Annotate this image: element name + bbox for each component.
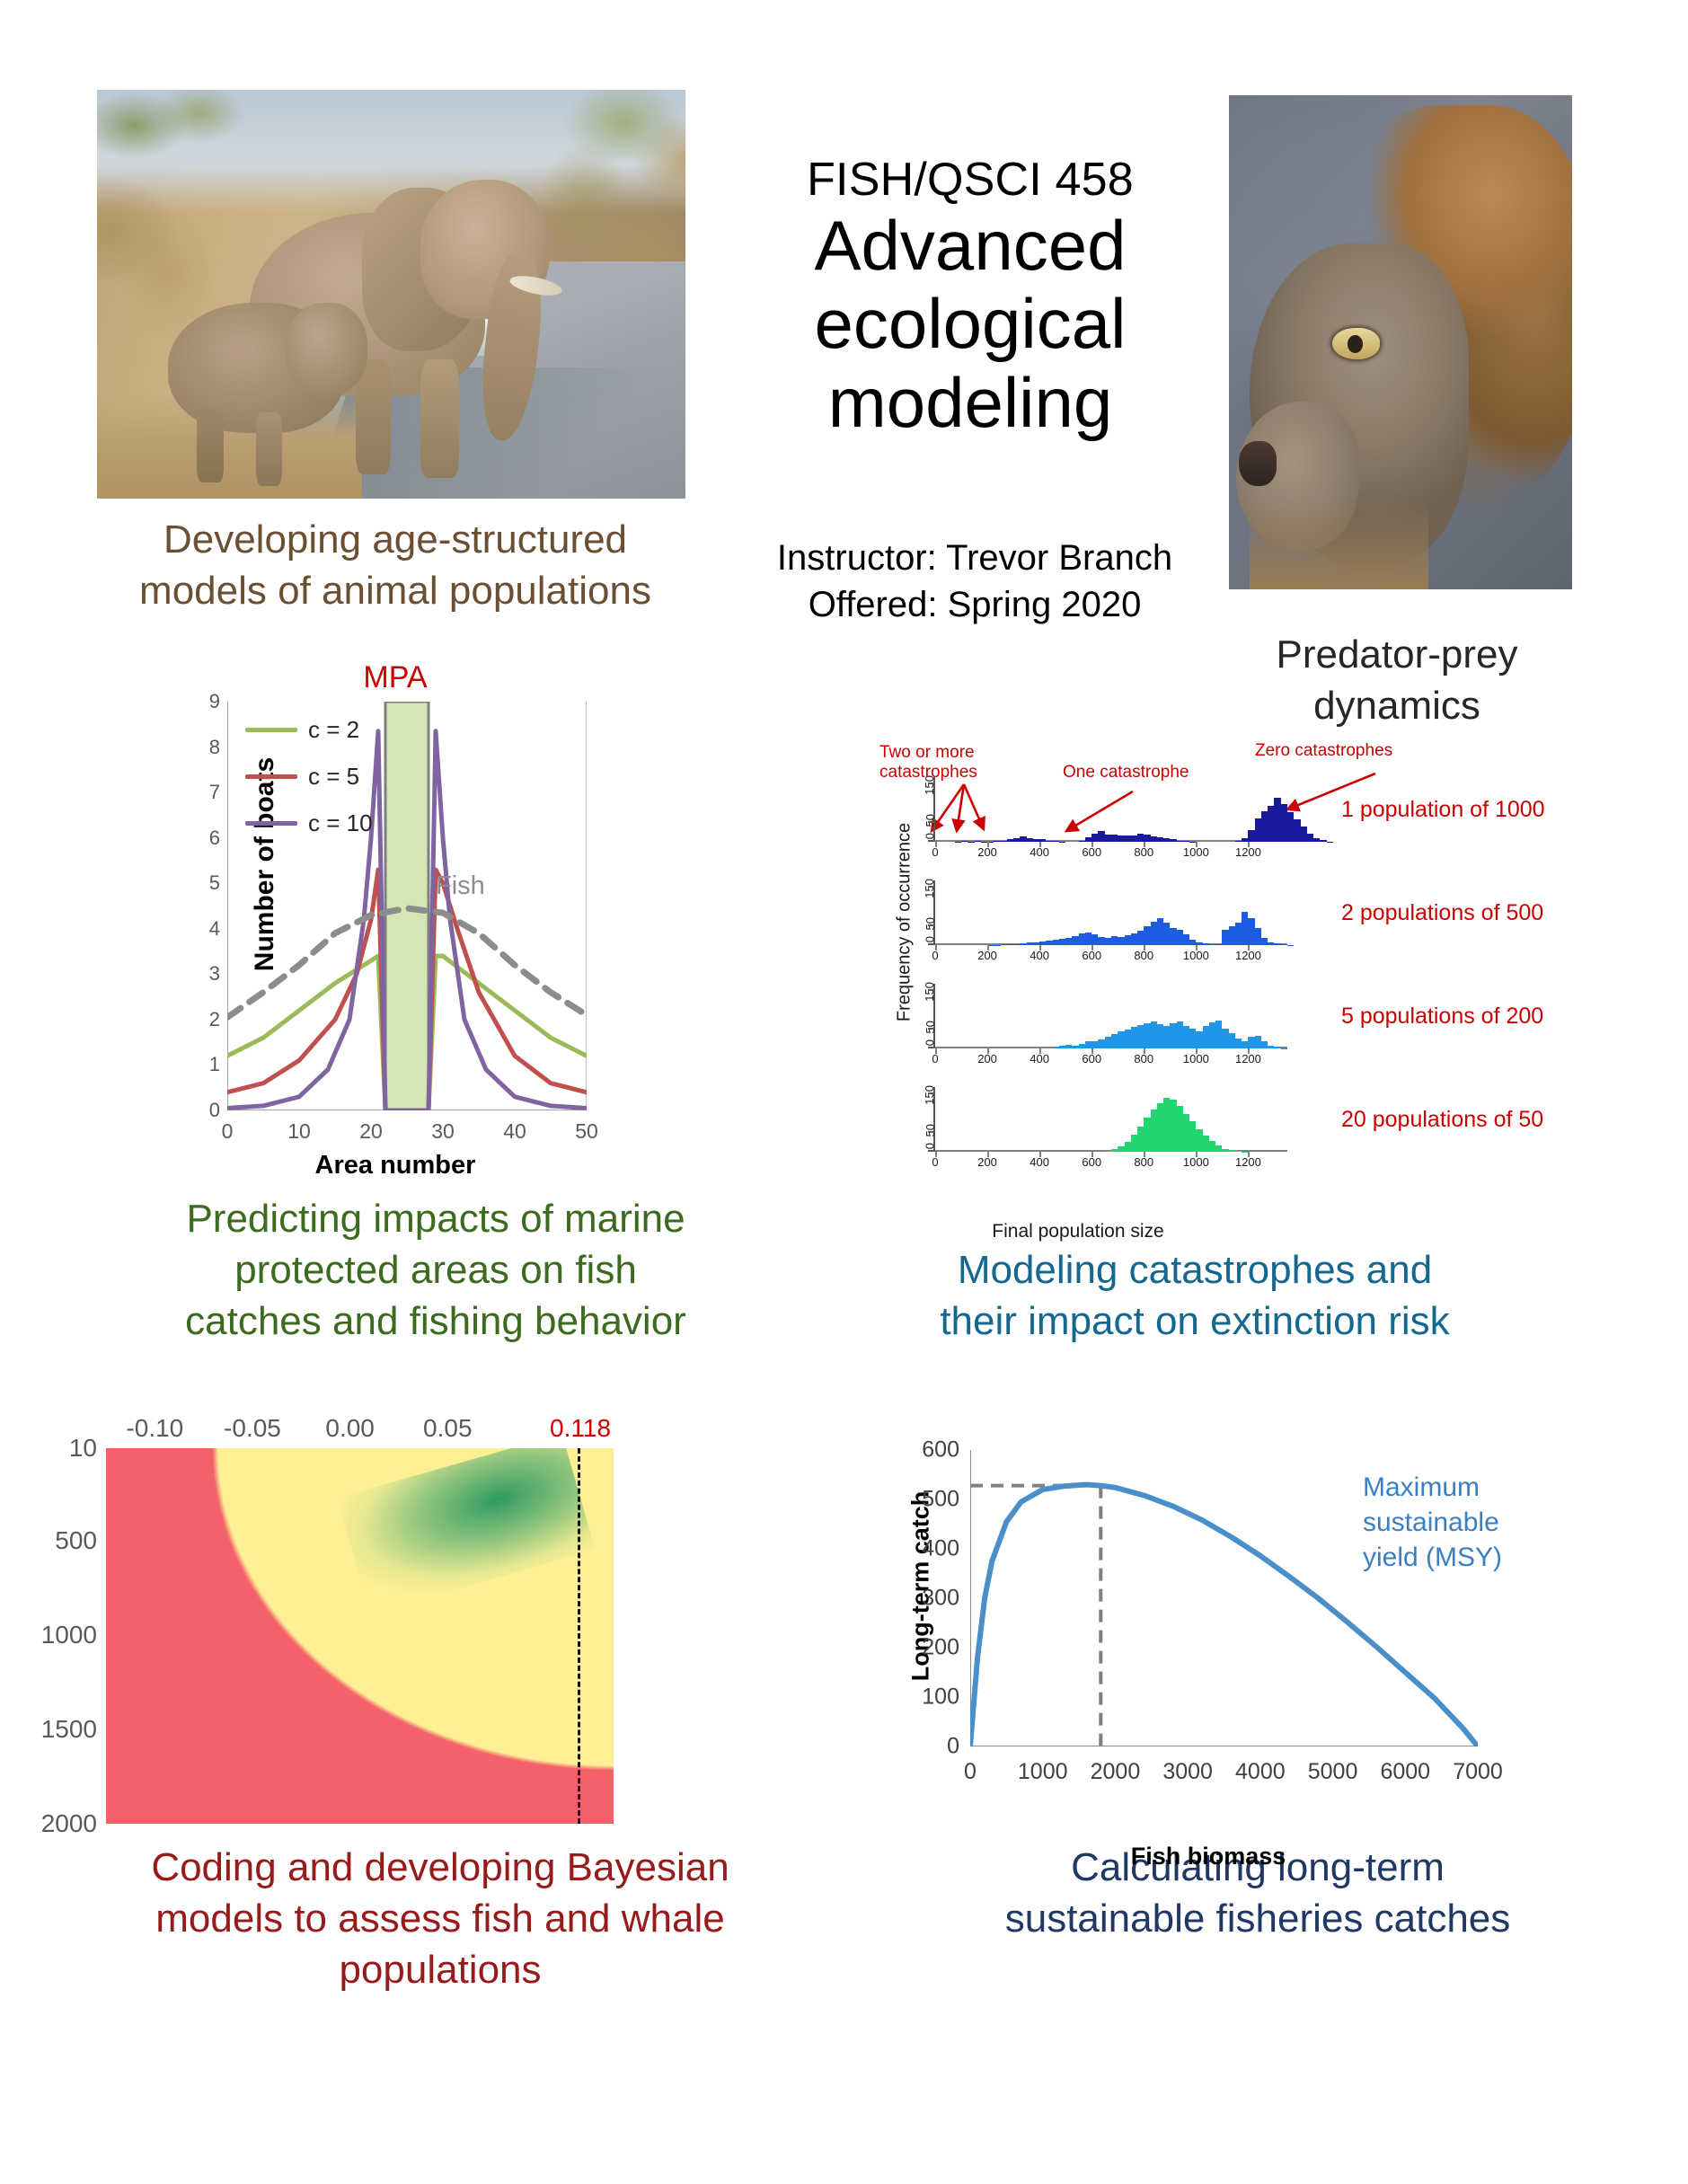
- histogram-y-tick-label: 0: [924, 1143, 937, 1149]
- histogram-bar: [1079, 1044, 1085, 1048]
- histogram-y-tick-label: 0: [924, 833, 937, 839]
- histogram-bar: [1020, 943, 1026, 945]
- histogram-bar: [1125, 935, 1131, 945]
- histogram-bar: [1105, 938, 1111, 945]
- msy-y-tick-label: 500: [922, 1487, 959, 1513]
- histogram-bar: [1157, 918, 1163, 945]
- histogram-bar: [1027, 942, 1033, 945]
- histogram-bar: [1261, 1041, 1268, 1048]
- histogram-bar: [1059, 1046, 1065, 1048]
- histogram-x-tick-label: 600: [1082, 949, 1101, 962]
- histogram-x-tick-label: 1000: [1183, 845, 1209, 859]
- mpa-fish-annotation: Fish: [436, 871, 485, 901]
- histogram-bar: [1098, 831, 1104, 842]
- histogram-row-label: 5 populations of 200: [1341, 1004, 1543, 1030]
- msy-annotation-line: yield (MSY): [1363, 1540, 1533, 1575]
- histogram-bar: [1163, 1026, 1170, 1048]
- histogram-x-tick-label: 600: [1082, 1155, 1101, 1169]
- histogram-bar: [1255, 818, 1261, 842]
- histogram-bar: [1053, 1048, 1059, 1048]
- msy-y-tick-label: 400: [922, 1536, 959, 1562]
- mpa-y-tick-label: 7: [209, 781, 220, 804]
- bayesian-heatmap: -0.10-0.050.000.050.11810500100015002000: [106, 1448, 614, 1824]
- mpa-legend-label: c = 2: [308, 716, 359, 744]
- histogram-bar: [1111, 1149, 1118, 1152]
- histogram-x-tick-label: 1200: [1235, 1155, 1261, 1169]
- histogram-bar: [1125, 836, 1131, 842]
- title-line-1: Advanced: [701, 207, 1240, 285]
- msy-y-tick-label: 100: [922, 1684, 959, 1711]
- histogram-bar: [1177, 930, 1183, 945]
- caption-catastrophes-line-2: their impact on extinction risk: [844, 1295, 1545, 1347]
- caption-catastrophes-line-1: Modeling catastrophes and: [844, 1244, 1545, 1295]
- caption-mpa-line-3: catches and fishing behavior: [81, 1295, 791, 1347]
- histogram-x-tick-label: 1000: [1183, 1052, 1209, 1065]
- histogram-bar: [1137, 931, 1144, 945]
- catastrophe-histogram-row: 0501500200400600800100012005 populations…: [910, 984, 1287, 1072]
- histogram-bar: [1235, 1039, 1242, 1048]
- caption-bayesian: Coding and developing Bayesian models to…: [54, 1842, 826, 1996]
- histogram-bar: [1053, 841, 1059, 842]
- caption-msy-line-2: sustainable fisheries catches: [862, 1893, 1653, 1944]
- instructor-line: Instructor: Trevor Branch: [710, 535, 1240, 581]
- histogram-bar: [1151, 1110, 1157, 1152]
- histogram-bar: [1170, 1023, 1176, 1048]
- caption-mpa-line-2: protected areas on fish: [81, 1244, 791, 1295]
- histogram-bar: [1183, 1114, 1189, 1152]
- histogram-bar: [1118, 1146, 1124, 1152]
- caption-elephant-line-1: Developing age-structured: [81, 514, 710, 565]
- histogram-bar: [1065, 938, 1072, 945]
- histogram-x-tick-label: 0: [932, 845, 938, 859]
- histogram-bar: [1215, 1021, 1222, 1048]
- heatmap-y-tick-label: 2000: [41, 1809, 97, 1838]
- histogram-x-tick-label: 0: [932, 1155, 938, 1169]
- histogram-bar: [1144, 1023, 1150, 1048]
- histogram-bar: [1215, 1145, 1222, 1152]
- mpa-legend: c = 2c = 5c = 10: [245, 716, 373, 856]
- mpa-x-axis-label: Area number: [166, 1151, 624, 1180]
- histogram-row-label: 20 populations of 50: [1341, 1107, 1543, 1133]
- histogram-bar: [1183, 934, 1189, 945]
- caption-mpa: Predicting impacts of marine protected a…: [81, 1193, 791, 1348]
- histogram-bar: [1189, 1121, 1196, 1152]
- msy-y-tick-label: 600: [922, 1437, 959, 1463]
- histogram-bar: [1151, 836, 1157, 842]
- histogram-bar: [1222, 930, 1228, 945]
- histogram-bar: [1268, 806, 1274, 842]
- histogram-bar: [1255, 928, 1261, 945]
- histogram-plot-area: 050150020040060080010001200: [935, 880, 1287, 945]
- calf-leg-rear: [197, 409, 223, 482]
- histogram-x-tick-label: 600: [1082, 845, 1101, 859]
- histogram-bar: [1235, 1151, 1242, 1152]
- histogram-bar: [1313, 838, 1320, 842]
- caption-elephant: Developing age-structured models of anim…: [81, 514, 710, 616]
- histogram-bar: [1196, 1031, 1202, 1048]
- histogram-x-tick-label: 1200: [1235, 949, 1261, 962]
- caption-elephant-line-2: models of animal populations: [81, 565, 710, 616]
- mpa-legend-label: c = 10: [308, 809, 373, 837]
- histogram-bar: [1111, 835, 1118, 842]
- msy-x-tick-label: 4000: [1235, 1759, 1286, 1785]
- histogram-plot-area: 050150020040060080010001200: [935, 984, 1287, 1048]
- histogram-bar: [1196, 1129, 1202, 1152]
- histogram-bar: [975, 841, 981, 842]
- histogram-bar: [1079, 841, 1085, 842]
- histogram-bar: [1261, 938, 1268, 945]
- heatmap-y-tick-label: 500: [55, 1526, 97, 1555]
- histogram-x-tick-label: 800: [1134, 1052, 1153, 1065]
- lion-pupil: [1348, 335, 1363, 353]
- catastrophe-annotation-label: One catastrophe: [1063, 763, 1242, 783]
- histogram-x-tick-label: 1000: [1183, 949, 1209, 962]
- histogram-bar: [1144, 835, 1150, 842]
- histogram-y-tick-label: 150: [924, 879, 937, 898]
- histogram-x-tick-label: 800: [1134, 845, 1153, 859]
- histogram-bar: [1085, 1041, 1091, 1048]
- msy-x-tick-label: 1000: [1018, 1759, 1068, 1785]
- histogram-bar: [1072, 1046, 1078, 1048]
- mpa-x-tick-label: 10: [287, 1119, 311, 1144]
- histogram-bar: [1046, 941, 1052, 945]
- histogram-bar: [1170, 928, 1176, 945]
- offered-line: Offered: Spring 2020: [710, 581, 1240, 628]
- course-poster: FISH/QSCI 458 Advanced ecological modeli…: [0, 0, 1688, 2184]
- page-title: Advanced ecological modeling: [701, 207, 1240, 442]
- histogram-bar: [1001, 841, 1007, 842]
- caption-lion-line-1: Predator-prey: [1195, 629, 1599, 680]
- histogram-plot-area: 050150020040060080010001200: [935, 777, 1287, 842]
- mpa-legend-item: c = 2: [245, 716, 373, 744]
- histogram-x-tick-label: 400: [1030, 1052, 1049, 1065]
- histogram-bar: [1281, 944, 1287, 945]
- heatmap-x-tick-label: 0.00: [325, 1414, 375, 1443]
- mpa-x-tick-label: 20: [359, 1119, 383, 1144]
- msy-x-tick-label: 3000: [1162, 1759, 1213, 1785]
- histogram-y-tick-label: 0: [924, 1039, 937, 1046]
- histogram-bar: [1131, 836, 1137, 842]
- histogram-x-tick-label: 0: [932, 1052, 938, 1065]
- caption-lion: Predator-prey dynamics: [1195, 629, 1599, 731]
- histogram-bar: [1001, 944, 1007, 945]
- histogram-bar: [1203, 1136, 1209, 1152]
- histogram-bar: [1111, 1034, 1118, 1048]
- histogram-bar: [1183, 1026, 1189, 1048]
- caption-bayesian-line-3: populations: [54, 1944, 826, 1995]
- histogram-bar: [1079, 933, 1085, 945]
- mpa-y-tick-label: 4: [209, 917, 220, 941]
- histogram-bar: [1137, 1025, 1144, 1048]
- catastrophe-histogram-row: 0501500200400600800100012001 population …: [910, 777, 1287, 865]
- histogram-bar: [1170, 839, 1176, 842]
- catastrophe-histogram-row: 05015002004006008001000120020 population…: [910, 1087, 1287, 1175]
- histogram-bar: [1151, 1021, 1157, 1048]
- calf-head: [286, 303, 368, 397]
- histogram-bar: [1177, 1106, 1183, 1152]
- histogram-x-tick-label: 400: [1030, 845, 1049, 859]
- catastrophe-histogram-row: 0501500200400600800100012002 populations…: [910, 880, 1287, 968]
- histogram-bar: [1033, 839, 1039, 842]
- histogram-bar: [1157, 1024, 1163, 1048]
- histogram-x-tick-label: 200: [977, 1155, 997, 1169]
- heatmap-grid: [106, 1448, 614, 1824]
- histogram-bar: [1177, 1021, 1183, 1048]
- histogram-bar: [1091, 834, 1098, 842]
- histogram-x-tick-label: 1200: [1235, 1052, 1261, 1065]
- mpa-y-tick-label: 5: [209, 871, 220, 895]
- histogram-bar: [1274, 1048, 1280, 1048]
- histogram-bar: [1229, 1150, 1235, 1152]
- title-line-2: ecological: [701, 285, 1240, 363]
- histogram-bar: [1209, 1022, 1215, 1048]
- mpa-x-tick-label: 30: [431, 1119, 455, 1144]
- title-line-3: modeling: [701, 364, 1240, 442]
- histogram-bar: [1085, 837, 1091, 842]
- lion-photo: [1229, 95, 1572, 589]
- histogram-x-tick-label: 200: [977, 1052, 997, 1065]
- caption-mpa-line-1: Predicting impacts of marine: [81, 1193, 791, 1244]
- mpa-y-tick-label: 9: [209, 690, 220, 713]
- histogram-bar: [1287, 812, 1294, 842]
- mpa-legend-swatch: [245, 821, 297, 826]
- heatmap-x-tick-label: 0.05: [423, 1414, 473, 1443]
- histogram-bar: [1007, 839, 1013, 842]
- mpa-legend-label: c = 5: [308, 763, 359, 791]
- histogram-bar: [1033, 942, 1039, 945]
- histogram-bar: [1007, 944, 1013, 945]
- caption-bayesian-line-1: Coding and developing Bayesian: [54, 1842, 826, 1893]
- histogram-bar: [1163, 1098, 1170, 1152]
- lion-nose: [1239, 441, 1277, 486]
- histogram-bar: [1013, 944, 1020, 945]
- histogram-bar: [1059, 939, 1065, 945]
- histogram-bar: [1235, 841, 1242, 842]
- histogram-bar: [1255, 1036, 1261, 1048]
- histogram-bar: [1046, 841, 1052, 842]
- histogram-x-tick-label: 1000: [1183, 1155, 1209, 1169]
- lion-chin: [1250, 500, 1428, 589]
- heatmap-x-tick-label: -0.05: [224, 1414, 281, 1443]
- histogram-bar: [1189, 940, 1196, 945]
- heatmap-y-tick-label: 1000: [41, 1621, 97, 1649]
- catastrophe-x-axis-label: Final population size: [867, 1221, 1289, 1242]
- histogram-bar: [1268, 942, 1274, 945]
- histogram-plot-area: 050150020040060080010001200: [935, 1087, 1287, 1152]
- mpa-y-tick-label: 1: [209, 1053, 220, 1076]
- histogram-y-tick-label: 150: [924, 982, 937, 1002]
- histogram-bar: [1281, 804, 1287, 842]
- histogram-bar: [1105, 1037, 1111, 1048]
- caption-catastrophes: Modeling catastrophes and their impact o…: [844, 1244, 1545, 1347]
- histogram-bar: [1053, 940, 1059, 945]
- histogram-bar: [1248, 1037, 1254, 1048]
- histogram-bar: [1268, 1046, 1274, 1048]
- caption-lion-line-2: dynamics: [1195, 680, 1599, 731]
- msy-x-tick-label: 0: [964, 1759, 977, 1785]
- histogram-x-tick-label: 600: [1082, 1052, 1101, 1065]
- histogram-bar: [1125, 1030, 1131, 1048]
- histogram-bar: [1027, 838, 1033, 842]
- histogram-bar: [1118, 937, 1124, 945]
- msy-x-tick-label: 2000: [1091, 1759, 1141, 1785]
- histogram-bar: [1163, 923, 1170, 945]
- histogram-bar: [1091, 1041, 1098, 1048]
- mpa-legend-swatch: [245, 774, 297, 779]
- histogram-x-tick-label: 800: [1134, 949, 1153, 962]
- histogram-bar: [1170, 1100, 1176, 1152]
- histogram-bar: [1203, 943, 1209, 945]
- mpa-y-tick-label: 2: [209, 1008, 220, 1031]
- course-meta: Instructor: Trevor Branch Offered: Sprin…: [710, 535, 1240, 628]
- histogram-bar: [1098, 1039, 1104, 1048]
- histogram-bar: [1131, 1027, 1137, 1048]
- histogram-row-label: 2 populations of 500: [1341, 900, 1543, 926]
- histogram-row-label: 1 population of 1000: [1341, 797, 1545, 823]
- msy-annotation-line: sustainable: [1363, 1505, 1533, 1540]
- histogram-bar: [1274, 798, 1280, 842]
- mpa-legend-item: c = 10: [245, 809, 373, 837]
- histogram-y-tick-label: 150: [924, 1085, 937, 1105]
- msy-annotation-line: Maximum: [1363, 1470, 1533, 1505]
- msy-x-tick-label: 7000: [1453, 1759, 1503, 1785]
- msy-annotation: Maximumsustainableyield (MSY): [1363, 1470, 1533, 1575]
- histogram-bar: [1261, 811, 1268, 842]
- heatmap-y-tick-label: 10: [69, 1434, 97, 1463]
- histogram-bar: [1294, 819, 1300, 842]
- calf-leg-front: [256, 412, 282, 486]
- mpa-x-tick-label: 50: [575, 1119, 598, 1144]
- mpa-y-tick-label: 0: [209, 1099, 220, 1122]
- adult-elephant-leg-front: [420, 359, 459, 478]
- mpa-chart-title: MPA: [166, 660, 624, 695]
- histogram-bar: [1131, 933, 1137, 945]
- histogram-x-tick-label: 200: [977, 949, 997, 962]
- msy-x-axis-label: Fish biomass: [930, 1843, 1487, 1870]
- caption-bayesian-line-2: models to assess fish and whale: [54, 1893, 826, 1944]
- histogram-x-tick-label: 0: [932, 949, 938, 962]
- histogram-bar: [1320, 840, 1326, 842]
- mpa-legend-swatch: [245, 728, 297, 732]
- mpa-legend-item: c = 5: [245, 763, 373, 791]
- histogram-bar: [1209, 1141, 1215, 1152]
- histogram-bar: [1177, 841, 1183, 842]
- histogram-bar: [1091, 934, 1098, 945]
- heatmap-x-tick-label: -0.10: [126, 1414, 183, 1443]
- histogram-bar: [1157, 1103, 1163, 1152]
- histogram-bar: [1163, 838, 1170, 842]
- histogram-bar: [1209, 944, 1215, 945]
- histogram-bar: [1020, 836, 1026, 842]
- mpa-y-tick-label: 3: [209, 962, 220, 986]
- histogram-x-tick-label: 200: [977, 845, 997, 859]
- histogram-bar: [1137, 834, 1144, 842]
- histogram-bar: [1085, 933, 1091, 945]
- msy-y-tick-label: 200: [922, 1635, 959, 1661]
- mpa-y-tick-label: 6: [209, 827, 220, 850]
- msy-x-tick-label: 6000: [1380, 1759, 1430, 1785]
- msy-x-tick-label: 5000: [1308, 1759, 1358, 1785]
- histogram-bar: [961, 841, 968, 842]
- msy-y-tick-label: 300: [922, 1586, 959, 1612]
- histogram-bar: [1248, 830, 1254, 842]
- course-code: FISH/QSCI 458: [737, 153, 1204, 207]
- mpa-x-tick-label: 0: [222, 1119, 234, 1144]
- histogram-bar: [1125, 1142, 1131, 1152]
- heatmap-y-tick-label: 1500: [41, 1715, 97, 1744]
- histogram-bar: [1105, 835, 1111, 842]
- histogram-bar: [994, 841, 1000, 842]
- msy-y-tick-label: 0: [947, 1734, 959, 1760]
- msy-chart: Long-term catch Fish biomass 01002003004…: [876, 1437, 1523, 1824]
- histogram-bar: [1098, 937, 1104, 945]
- elephant-photo: [97, 90, 685, 499]
- histogram-bar: [1248, 918, 1254, 945]
- histogram-bar: [1242, 838, 1248, 842]
- heatmap-vline: [578, 1448, 580, 1824]
- histogram-bar: [1189, 1029, 1196, 1048]
- histogram-x-tick-label: 800: [1134, 1155, 1153, 1169]
- histogram-bar: [1072, 936, 1078, 945]
- histogram-bar: [1242, 912, 1248, 945]
- histogram-bar: [1118, 1031, 1124, 1048]
- histogram-bar: [1144, 1118, 1150, 1152]
- histogram-bar: [1144, 926, 1150, 945]
- histogram-bar: [1183, 841, 1189, 842]
- histogram-x-tick-label: 400: [1030, 949, 1049, 962]
- histogram-bar: [1203, 1026, 1209, 1048]
- histogram-x-tick-label: 400: [1030, 1155, 1049, 1169]
- histogram-bar: [1307, 834, 1313, 842]
- adult-elephant-leg-rear: [356, 359, 391, 473]
- histogram-bar: [1235, 923, 1242, 945]
- histogram-bar: [1105, 1151, 1111, 1152]
- histogram-bar: [1222, 1029, 1228, 1048]
- histogram-bar: [1242, 1041, 1248, 1048]
- histogram-bar: [1229, 926, 1235, 945]
- histogram-y-tick-label: 0: [924, 936, 937, 942]
- histogram-bar: [1157, 837, 1163, 842]
- heatmap-x-tick-label: 0.118: [550, 1414, 611, 1443]
- histogram-x-tick-label: 1200: [1235, 845, 1261, 859]
- histogram-bar: [1229, 1033, 1235, 1048]
- catastrophe-annotation-label: Two or more catastrophes: [879, 743, 1014, 783]
- histogram-bar: [1065, 1045, 1072, 1048]
- mpa-chart: MPA Number of boats Area number 01234567…: [166, 660, 624, 1177]
- catastrophe-annotation-label: Zero catastrophes: [1255, 741, 1435, 761]
- histogram-bar: [1111, 936, 1118, 945]
- histogram-bar: [1137, 1127, 1144, 1152]
- histogram-bar: [1222, 1149, 1228, 1152]
- histogram-bar: [1215, 944, 1222, 945]
- mpa-x-tick-label: 40: [503, 1119, 526, 1144]
- histogram-bar: [1013, 838, 1020, 842]
- catastrophe-histogram-panel: Frequency of occurrence Final population…: [867, 741, 1523, 1244]
- histogram-bar: [1118, 836, 1124, 842]
- histogram-bar: [1274, 943, 1280, 945]
- histogram-bar: [1151, 922, 1157, 945]
- histogram-bar: [1131, 1135, 1137, 1152]
- histogram-bar: [1301, 827, 1307, 842]
- mpa-y-tick-label: 8: [209, 736, 220, 759]
